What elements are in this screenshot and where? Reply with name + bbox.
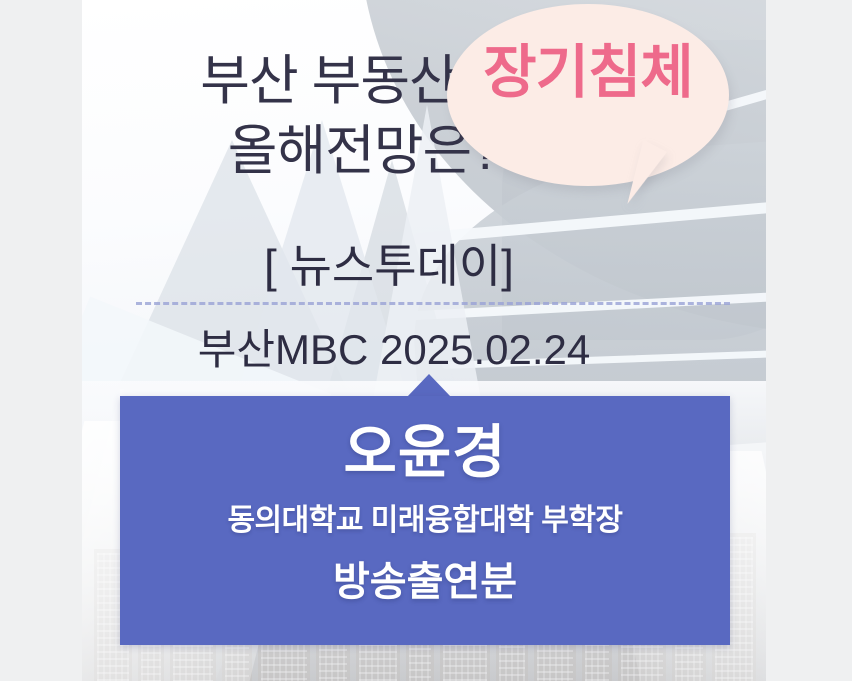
guest-affiliation: 동의대학교 미래융합대학 부학장 (120, 495, 730, 539)
dashed-divider (136, 302, 730, 305)
content-card: 부산 부동산 올해전망은? 장기침체 [ 뉴스투데이] 부산MBC 2025.0… (82, 0, 766, 681)
guest-card-pointer-icon (407, 374, 451, 397)
guest-name: 오윤경 (120, 420, 730, 487)
guest-card: 오윤경 동의대학교 미래융합대학 부학장 방송출연분 (120, 396, 730, 645)
program-name: [ 뉴스투데이] (82, 230, 766, 296)
broadcast-info: 부산MBC 2025.02.24 (82, 316, 766, 377)
highlight-text: 장기침체 (447, 44, 729, 102)
guest-subtitle: 방송출연분 (120, 549, 730, 607)
highlight-speech-bubble: 장기침체 (447, 4, 737, 209)
poster-canvas: 부산 부동산 올해전망은? 장기침체 [ 뉴스투데이] 부산MBC 2025.0… (0, 0, 852, 681)
